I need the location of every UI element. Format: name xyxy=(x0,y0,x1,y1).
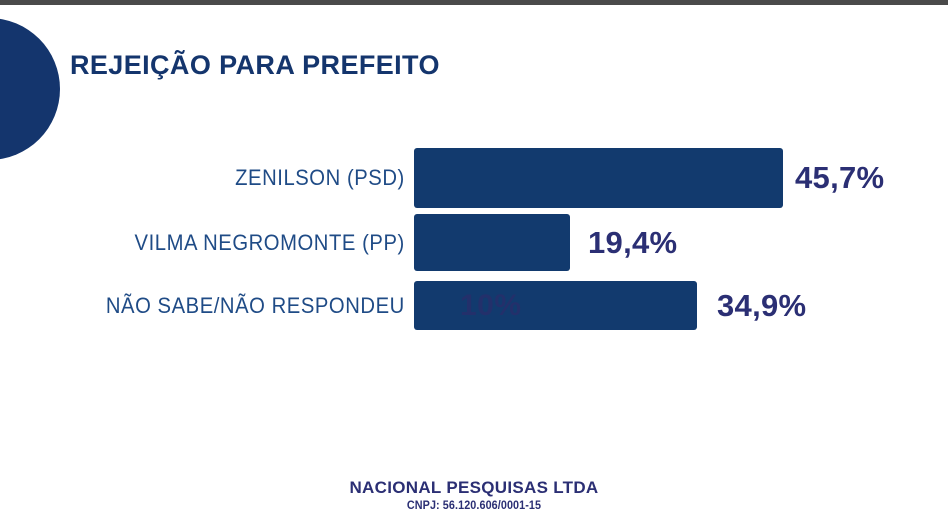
bar-track: 45,7% xyxy=(414,148,948,208)
category-label-nao-sabe: NÃO SABE/NÃO RESPONDEU xyxy=(33,295,414,317)
page-title: REJEIÇÃO PARA PREFEITO xyxy=(70,50,440,81)
bar-chart: ZENILSON (PSD) 45,7% VILMA NEGROMONTE (P… xyxy=(0,148,948,330)
bar-vilma xyxy=(414,214,570,271)
bar-track: 10% 34,9% xyxy=(414,281,948,330)
decorative-half-circle xyxy=(0,18,60,160)
bar-annotation-10-percent: 10% xyxy=(460,289,522,323)
value-label-vilma: 19,4% xyxy=(588,225,677,261)
bar-track: 19,4% xyxy=(414,214,948,271)
bar-zenilson xyxy=(414,148,783,208)
chart-row: VILMA NEGROMONTE (PP) 19,4% xyxy=(0,214,948,271)
top-chrome-strip xyxy=(0,0,948,5)
bar-nao-sabe: 10% xyxy=(414,281,697,330)
category-label-zenilson: ZENILSON (PSD) xyxy=(33,167,414,189)
footer-cnpj: CNPJ: 56.120.606/0001-15 xyxy=(47,498,900,514)
chart-row: ZENILSON (PSD) 45,7% xyxy=(0,148,948,208)
slide-canvas: REJEIÇÃO PARA PREFEITO ZENILSON (PSD) 45… xyxy=(0,0,948,526)
footer: NACIONAL PESQUISAS LTDA CNPJ: 56.120.606… xyxy=(0,477,948,514)
value-label-zenilson: 45,7% xyxy=(795,160,884,196)
value-label-nao-sabe: 34,9% xyxy=(717,288,806,324)
footer-company-name: NACIONAL PESQUISAS LTDA xyxy=(0,477,948,498)
category-label-vilma: VILMA NEGROMONTE (PP) xyxy=(33,232,414,254)
chart-row: NÃO SABE/NÃO RESPONDEU 10% 34,9% xyxy=(0,281,948,330)
